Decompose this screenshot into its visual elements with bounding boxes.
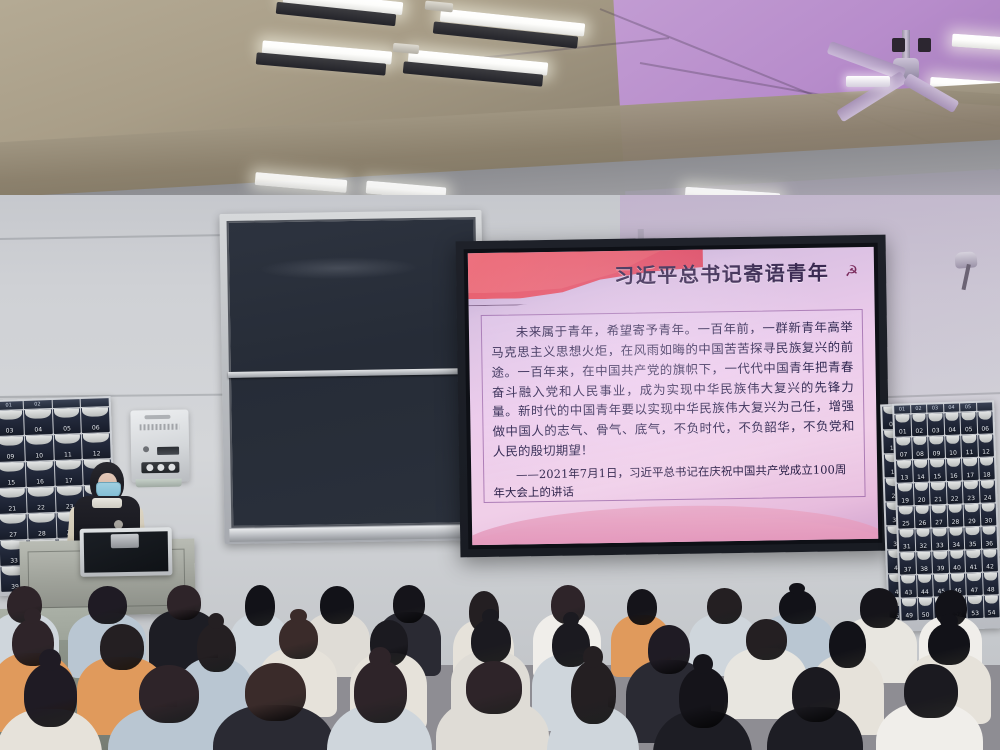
pocket-number: 06 bbox=[92, 425, 100, 432]
phone-pocket[interactable]: 08 bbox=[912, 437, 928, 460]
pocket-number: 12 bbox=[982, 449, 990, 456]
pocket-number: 16 bbox=[36, 479, 44, 486]
audience-head bbox=[466, 661, 522, 713]
pocket-number: 14 bbox=[917, 475, 925, 482]
audience-head bbox=[792, 667, 840, 722]
pocket-number: 12 bbox=[93, 451, 101, 458]
audience-seating bbox=[0, 560, 1000, 750]
pocket-number: 04 bbox=[948, 428, 956, 435]
audience-member bbox=[327, 660, 438, 750]
pocket-number: 11 bbox=[64, 452, 72, 459]
audience-member bbox=[767, 667, 869, 750]
pocket-number: 07 bbox=[900, 452, 908, 459]
control-button-bar[interactable] bbox=[141, 462, 179, 474]
pocket-number: 02 bbox=[915, 429, 923, 436]
organizer-header-cell: 02 bbox=[911, 405, 927, 414]
organizer-header-cell bbox=[977, 402, 993, 411]
control-vent bbox=[144, 415, 170, 419]
pocket-number: 21 bbox=[934, 497, 942, 504]
phone-pocket[interactable]: 22 bbox=[26, 487, 55, 513]
pocket-number: 15 bbox=[7, 480, 15, 487]
pocket-number: 28 bbox=[952, 520, 960, 527]
phone-pocket[interactable]: 34 bbox=[948, 527, 964, 550]
phone-pocket[interactable]: 17 bbox=[962, 458, 978, 481]
pocket-number: 13 bbox=[900, 475, 908, 482]
organizer-header-cell bbox=[52, 399, 80, 408]
pocket-number: 09 bbox=[933, 451, 941, 458]
phone-pocket[interactable]: 14 bbox=[913, 460, 929, 483]
phone-pocket[interactable]: 06 bbox=[81, 407, 110, 433]
slide-footer-wave bbox=[472, 495, 879, 545]
phone-pocket[interactable]: 31 bbox=[898, 529, 914, 552]
pocket-number: 08 bbox=[916, 452, 924, 459]
control-button[interactable] bbox=[146, 464, 153, 471]
pocket-number: 35 bbox=[969, 542, 977, 549]
organizer-header-cell: 03 bbox=[927, 404, 943, 413]
pocket-number: 36 bbox=[985, 541, 993, 548]
pocket-number: 18 bbox=[983, 472, 991, 479]
pocket-number: 09 bbox=[7, 454, 15, 461]
chalk-smudge bbox=[259, 256, 419, 281]
control-button[interactable] bbox=[157, 464, 164, 471]
audience-head bbox=[354, 660, 407, 722]
audience-head bbox=[928, 623, 970, 665]
control-button[interactable] bbox=[168, 464, 175, 471]
audience-head bbox=[88, 586, 127, 624]
phone-pocket[interactable]: 09 bbox=[928, 436, 944, 459]
pocket-number: 26 bbox=[919, 521, 927, 528]
pocket-number: 22 bbox=[951, 497, 959, 504]
phone-pocket[interactable]: 11 bbox=[53, 434, 82, 460]
pocket-number: 05 bbox=[63, 426, 71, 433]
phone-pocket[interactable]: 15 bbox=[929, 459, 945, 482]
phone-pocket[interactable]: 32 bbox=[915, 529, 931, 552]
phone-pocket[interactable]: 28 bbox=[27, 513, 56, 539]
phone-pocket[interactable]: 03 bbox=[927, 413, 943, 436]
projection-screen: 习近平总书记寄语青年 ☭ 未来属于青年，希望寄予青年。一百年前，一群新青年高举马… bbox=[456, 235, 891, 558]
phone-pocket[interactable]: 05 bbox=[52, 408, 81, 434]
phone-pocket[interactable]: 03 bbox=[0, 410, 24, 436]
phone-pocket[interactable]: 20 bbox=[913, 483, 929, 506]
phone-pocket[interactable]: 01 bbox=[894, 414, 910, 437]
phone-pocket[interactable]: 12 bbox=[978, 434, 994, 457]
hammer-and-sickle-icon: ☭ bbox=[843, 263, 860, 280]
phone-pocket[interactable]: 36 bbox=[981, 526, 997, 549]
pocket-number: 20 bbox=[918, 498, 926, 505]
phone-pocket[interactable]: 06 bbox=[977, 411, 993, 434]
hair-bun bbox=[563, 612, 579, 627]
phone-pocket[interactable]: 12 bbox=[82, 433, 111, 459]
audience-head bbox=[245, 663, 306, 721]
audience-head bbox=[904, 664, 957, 718]
pocket-number: 27 bbox=[935, 520, 943, 527]
phone-pocket[interactable]: 22 bbox=[946, 481, 962, 504]
organizer-header-cell: 01 bbox=[0, 401, 23, 410]
presenter-collar bbox=[92, 498, 122, 508]
phone-pocket[interactable]: 28 bbox=[947, 504, 963, 527]
phone-pocket[interactable]: 26 bbox=[914, 506, 930, 529]
hair-bun bbox=[39, 649, 61, 671]
screen-bezel: 习近平总书记寄语青年 ☭ 未来属于青年，希望寄予青年。一百年前，一群新青年高举马… bbox=[464, 243, 883, 549]
pocket-number: 32 bbox=[919, 544, 927, 551]
pocket-number: 04 bbox=[34, 427, 42, 434]
phone-pocket[interactable]: 11 bbox=[961, 435, 977, 458]
pocket-number: 23 bbox=[967, 496, 975, 503]
pocket-number: 27 bbox=[9, 532, 17, 539]
phone-pocket[interactable]: 15 bbox=[0, 462, 25, 488]
pocket-number: 10 bbox=[35, 453, 43, 460]
phone-pocket[interactable]: 24 bbox=[979, 480, 995, 503]
control-label-text bbox=[140, 424, 180, 431]
pocket-number: 34 bbox=[952, 543, 960, 550]
pocket-number: 15 bbox=[933, 474, 941, 481]
phone-pocket[interactable]: 02 bbox=[911, 414, 927, 437]
pocket-number: 05 bbox=[965, 427, 973, 434]
phone-pocket[interactable]: 19 bbox=[897, 483, 913, 506]
pocket-number: 29 bbox=[968, 519, 976, 526]
pocket-number: 10 bbox=[949, 451, 957, 458]
control-indicator bbox=[143, 446, 149, 452]
chalk-tray bbox=[229, 525, 481, 542]
audience-member bbox=[876, 664, 988, 750]
slide-body-text: 未来属于青年，希望寄予青年。一百年前，一群新青年高举马克思主义思想火炬，在风雨如… bbox=[491, 317, 855, 462]
phone-pocket[interactable]: 10 bbox=[25, 435, 54, 461]
phone-pocket[interactable]: 23 bbox=[963, 481, 979, 504]
blackboard bbox=[219, 210, 486, 544]
phone-pocket[interactable]: 35 bbox=[964, 527, 980, 550]
hair-bun bbox=[789, 583, 805, 594]
audience-head bbox=[829, 621, 866, 668]
phone-pocket[interactable]: 09 bbox=[0, 436, 25, 462]
audience-member bbox=[436, 661, 554, 750]
control-display bbox=[157, 447, 179, 455]
audience-member bbox=[547, 660, 643, 750]
phone-pocket[interactable]: 13 bbox=[896, 460, 912, 483]
phone-pocket[interactable]: 25 bbox=[898, 506, 914, 529]
pocket-number: 03 bbox=[932, 428, 940, 435]
organizer-header-cell: 05 bbox=[960, 403, 976, 412]
wall-speaker bbox=[954, 251, 977, 268]
wave-front bbox=[472, 503, 879, 546]
phone-pocket[interactable]: 16 bbox=[26, 461, 55, 487]
audience-head bbox=[167, 585, 202, 620]
phone-pocket[interactable]: 21 bbox=[0, 488, 26, 514]
pocket-number: 11 bbox=[966, 450, 974, 457]
lecture-hall-photo: 习近平总书记寄语青年 ☭ 未来属于青年，希望寄予青年。一百年前，一群新青年高举马… bbox=[0, 0, 1000, 750]
audience-head bbox=[279, 618, 318, 659]
pocket-number: 16 bbox=[950, 474, 958, 481]
hair-bun bbox=[583, 646, 602, 668]
phone-pocket[interactable]: 21 bbox=[930, 482, 946, 505]
audience-head bbox=[139, 665, 199, 723]
organizer-header-cell: 01 bbox=[894, 405, 910, 414]
phone-pocket[interactable]: 18 bbox=[978, 457, 994, 480]
pocket-number: 30 bbox=[985, 518, 993, 525]
audience-head bbox=[471, 619, 511, 663]
audience-member bbox=[0, 663, 107, 750]
pocket-number: 33 bbox=[936, 543, 944, 550]
audience-member bbox=[653, 667, 757, 750]
pocket-number: 03 bbox=[6, 428, 14, 435]
audience-head bbox=[679, 667, 728, 727]
pocket-number: 17 bbox=[966, 473, 974, 480]
pocket-number: 01 bbox=[899, 429, 907, 436]
hair-bun bbox=[208, 613, 224, 629]
audience-head bbox=[627, 589, 657, 625]
audience-head bbox=[24, 663, 77, 726]
ceiling bbox=[0, 0, 1000, 215]
pocket-number: 22 bbox=[37, 505, 45, 512]
slide-title: 习近平总书记寄语青年 bbox=[614, 257, 829, 289]
monitor-stand bbox=[111, 534, 139, 548]
phone-pocket[interactable]: 33 bbox=[931, 528, 947, 551]
phone-pocket[interactable]: 29 bbox=[964, 504, 980, 527]
audience-head bbox=[393, 585, 425, 622]
organizer-header-cell: 02 bbox=[23, 400, 51, 409]
pocket-number: 19 bbox=[901, 498, 909, 505]
organizer-header-cell: 04 bbox=[944, 404, 960, 413]
pocket-number: 24 bbox=[984, 495, 992, 502]
pocket-number: 25 bbox=[902, 521, 910, 528]
phone-pocket[interactable]: 27 bbox=[0, 514, 27, 540]
organizer-header-cell bbox=[81, 398, 109, 407]
hair-bun bbox=[369, 647, 391, 668]
slide-text-box: 未来属于青年，希望寄予青年。一百年前，一群新青年高举马克思主义思想火炬，在风雨如… bbox=[481, 309, 866, 503]
phone-pocket[interactable]: 07 bbox=[895, 437, 911, 460]
phone-pocket[interactable]: 16 bbox=[946, 458, 962, 481]
pocket-number: 06 bbox=[981, 426, 989, 433]
phone-pocket[interactable]: 10 bbox=[945, 435, 961, 458]
audience-head bbox=[746, 619, 787, 660]
audience-member bbox=[213, 663, 341, 750]
pocket-number: 28 bbox=[38, 531, 46, 538]
phone-pocket[interactable]: 30 bbox=[980, 503, 996, 526]
phone-pocket[interactable]: 05 bbox=[960, 412, 976, 435]
pocket-number: 31 bbox=[903, 544, 911, 551]
hair-bun bbox=[940, 614, 958, 628]
phone-pocket[interactable]: 04 bbox=[24, 409, 53, 435]
presentation-slide: 习近平总书记寄语青年 ☭ 未来属于青年，希望寄予青年。一百年前，一群新青年高举马… bbox=[468, 247, 879, 545]
phone-pocket[interactable]: 04 bbox=[944, 413, 960, 436]
pocket-number: 21 bbox=[8, 506, 16, 513]
phone-pocket[interactable]: 27 bbox=[931, 505, 947, 528]
audience-head bbox=[571, 660, 617, 723]
hair-bun bbox=[290, 609, 306, 623]
